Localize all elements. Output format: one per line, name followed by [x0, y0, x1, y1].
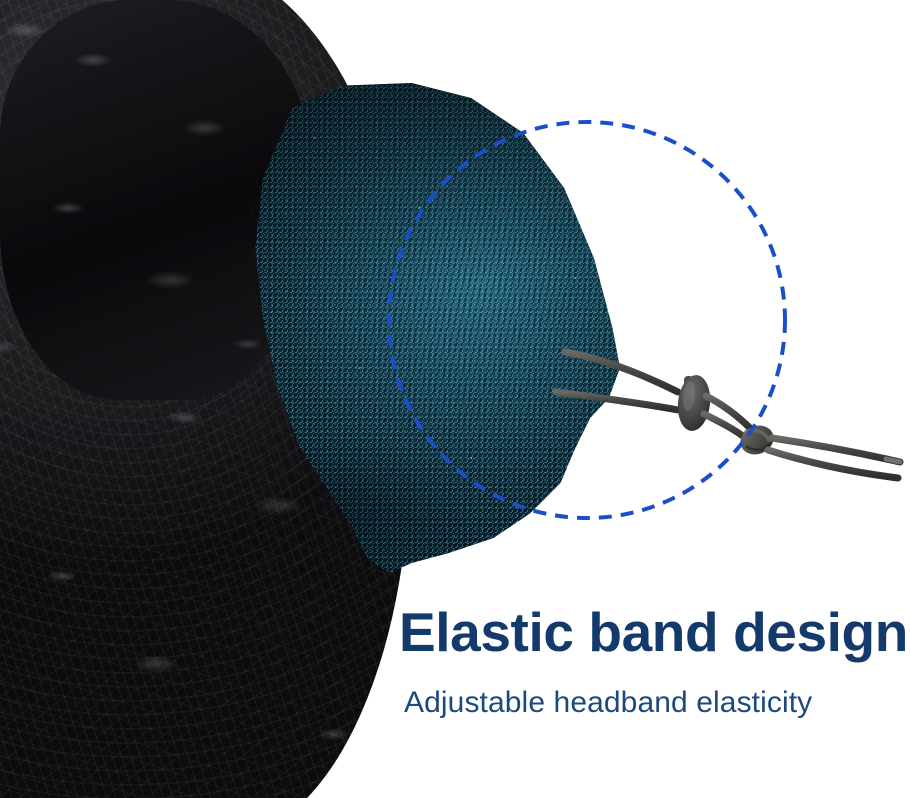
elastic-cord-to-knot [706, 396, 752, 430]
subheadline-text: Adjustable headband elasticity [404, 685, 910, 721]
cord-lock-toggle [675, 373, 713, 432]
cord-knot [736, 421, 778, 460]
elastic-cord-tail-lower [768, 450, 898, 478]
caption-block: Elastic band design Adjustable headband … [399, 604, 910, 721]
elastic-cord-tail-upper [772, 438, 900, 462]
headline-text: Elastic band design [399, 604, 910, 661]
elastic-cord-to-knot-2 [704, 414, 748, 440]
product-feature-image: Elastic band design Adjustable headband … [0, 0, 910, 798]
